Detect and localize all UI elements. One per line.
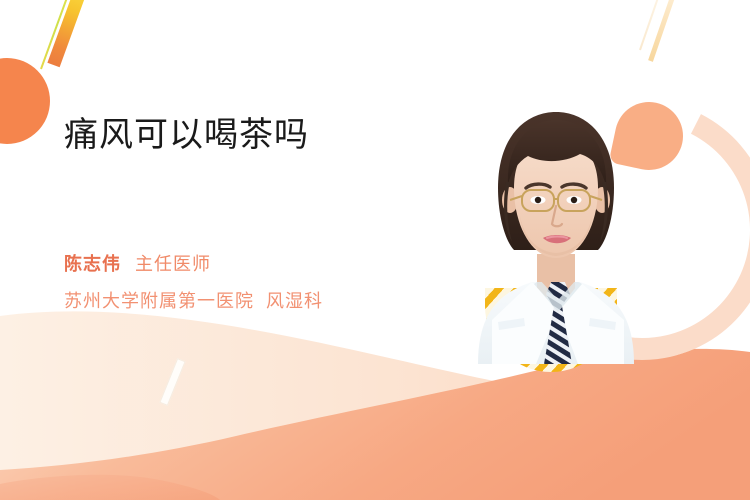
- diagonal-stripe-top-right-thin-icon: [639, 0, 670, 50]
- pupil-right: [571, 197, 577, 203]
- doctor-department: 风湿科: [266, 291, 323, 311]
- doctor-title: 主任医师: [135, 254, 211, 274]
- orange-circle-decoration: [0, 58, 50, 144]
- diagonal-stripe-thin-icon: [40, 0, 74, 69]
- diagonal-stripe-top-right-icon: [648, 0, 684, 62]
- doctor-hospital: 苏州大学附属第一医院: [64, 291, 254, 311]
- pupil-left: [535, 197, 541, 203]
- doctor-portrait: [448, 96, 664, 364]
- doctor-info-card: 痛风可以喝茶吗 陈志伟主任医师 苏州大学附属第一医院风湿科: [0, 0, 750, 500]
- doctor-name: 陈志伟: [64, 254, 121, 274]
- diagonal-stripe-thick-icon: [47, 0, 92, 67]
- doctor-identity-line: 陈志伟主任医师: [64, 250, 211, 276]
- article-title: 痛风可以喝茶吗: [64, 114, 309, 157]
- doctor-affiliation-line: 苏州大学附属第一医院风湿科: [64, 287, 323, 313]
